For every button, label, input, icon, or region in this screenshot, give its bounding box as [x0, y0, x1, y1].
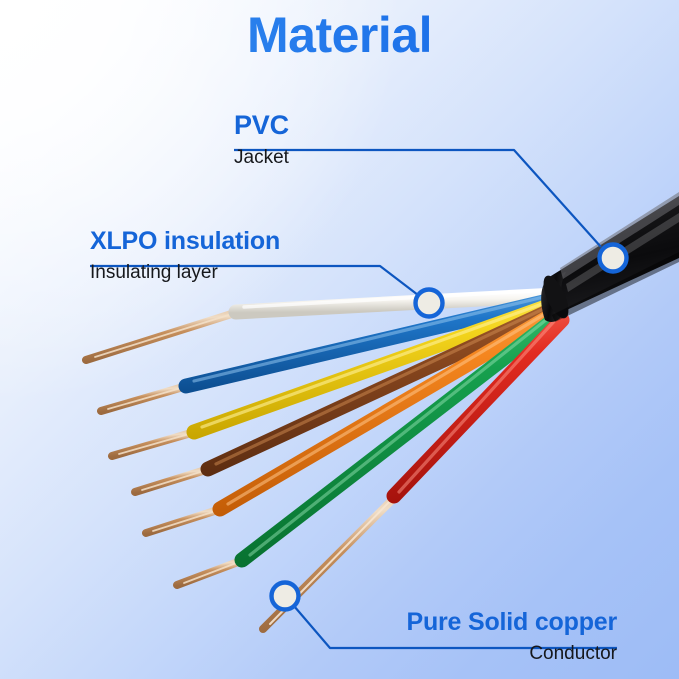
material-infographic: Material	[0, 0, 679, 679]
cable-illustration	[0, 0, 679, 679]
callout-copper: Pure Solid copper Conductor	[388, 610, 617, 663]
leader-pvc	[234, 150, 627, 272]
callout-copper-subtitle: Conductor	[388, 644, 617, 663]
callout-xlpo: XLPO insulation Insulating layer	[90, 229, 280, 282]
callout-pvc-heading: PVC	[234, 112, 289, 139]
callout-pvc: PVC Jacket	[234, 112, 289, 167]
marker-pvc	[600, 245, 627, 272]
wire-bundle	[86, 290, 562, 629]
callout-copper-heading: Pure Solid copper	[388, 610, 617, 635]
marker-copper	[272, 583, 299, 610]
callout-pvc-subtitle: Jacket	[234, 148, 289, 167]
marker-xlpo	[416, 290, 443, 317]
callout-xlpo-heading: XLPO insulation	[90, 229, 280, 254]
callout-xlpo-subtitle: Insulating layer	[90, 263, 280, 282]
